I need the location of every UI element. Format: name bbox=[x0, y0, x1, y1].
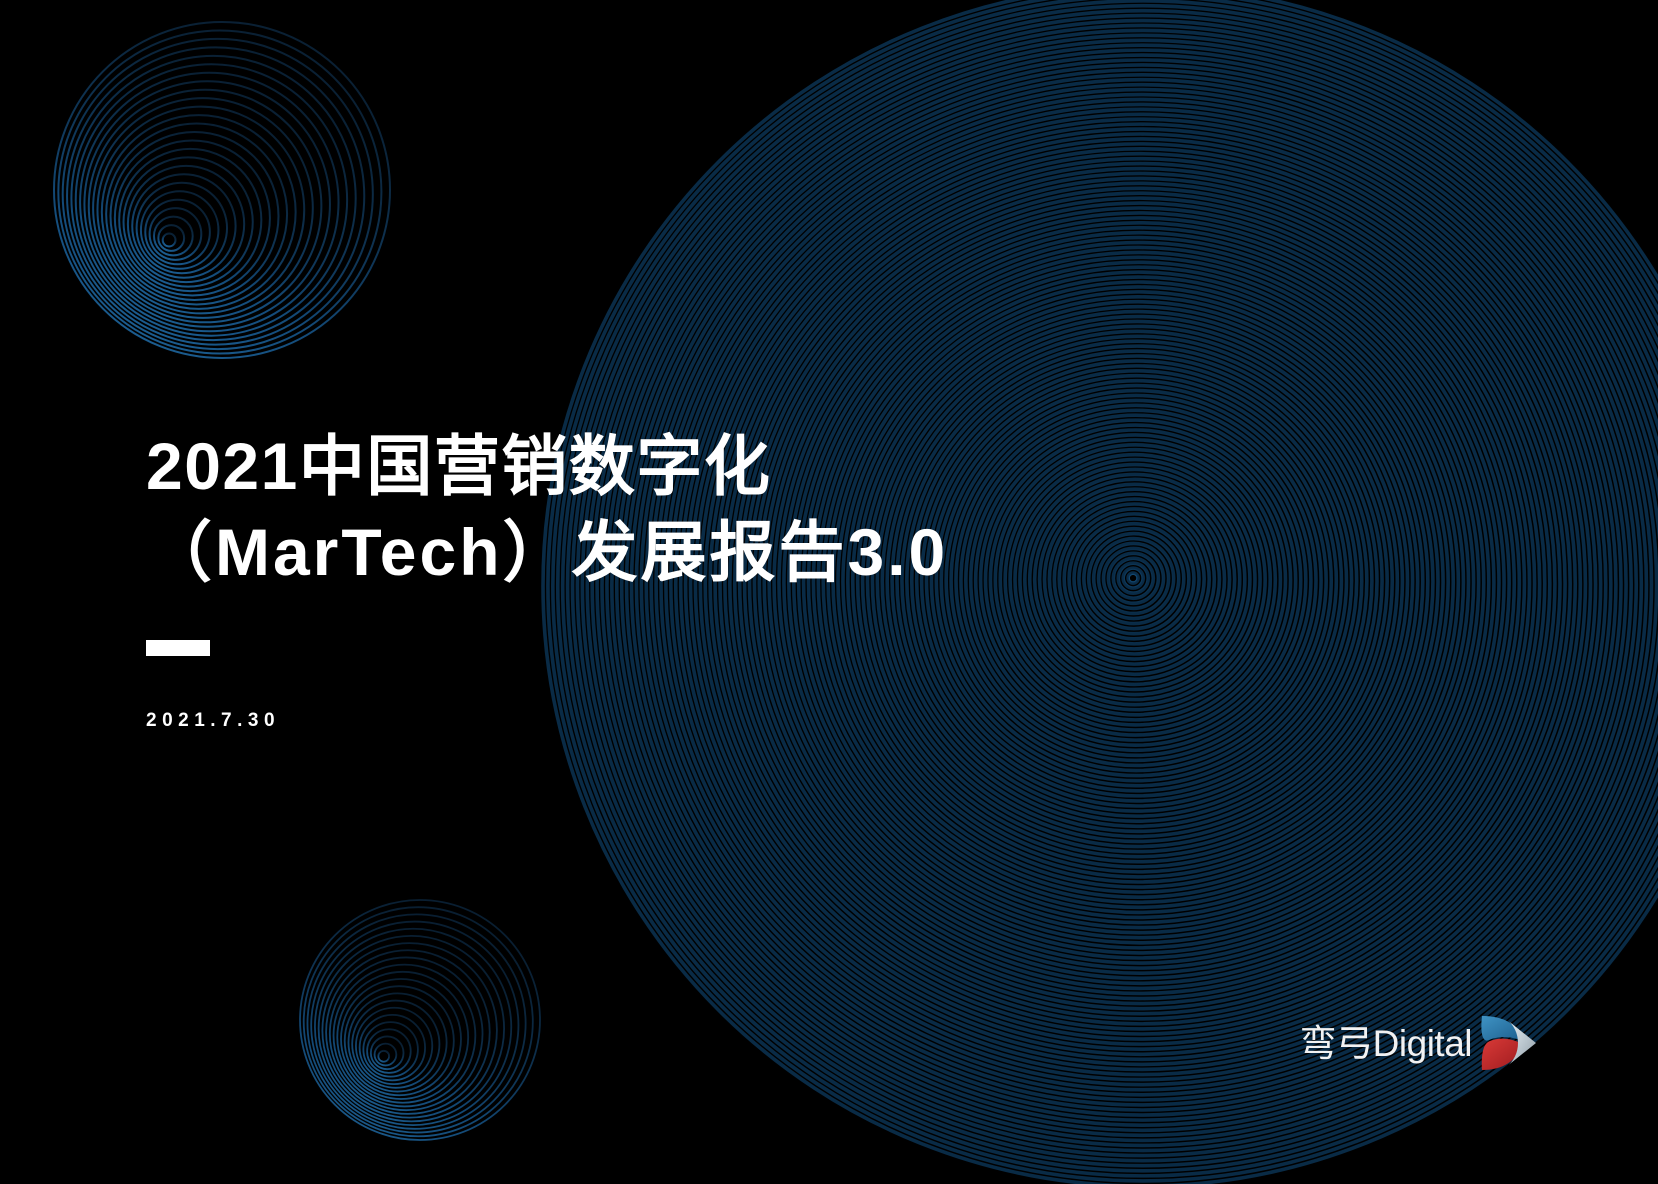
date-label: 2021.7.30 bbox=[146, 710, 1266, 732]
brand-logo-text: 弯弓Digital bbox=[1300, 1025, 1472, 1062]
title-divider bbox=[146, 640, 210, 656]
page-title-line-1: 2021中国营销数字化 bbox=[146, 429, 771, 503]
brand-logo-arrow-icon bbox=[1478, 1014, 1540, 1072]
brand-logo: 弯弓Digital bbox=[1300, 1014, 1540, 1072]
page-title-line-2: （MarTech）发展报告3.0 bbox=[146, 515, 948, 589]
title-slide: 2021中国营销数字化 （MarTech）发展报告3.0 2021.7.30 弯… bbox=[0, 0, 1658, 1184]
spiral-bottom-left bbox=[300, 900, 540, 1140]
title-block: 2021中国营销数字化 （MarTech）发展报告3.0 2021.7.30 bbox=[146, 424, 1266, 732]
spiral-top-left bbox=[54, 22, 390, 358]
page-title: 2021中国营销数字化 （MarTech）发展报告3.0 bbox=[146, 424, 1266, 596]
